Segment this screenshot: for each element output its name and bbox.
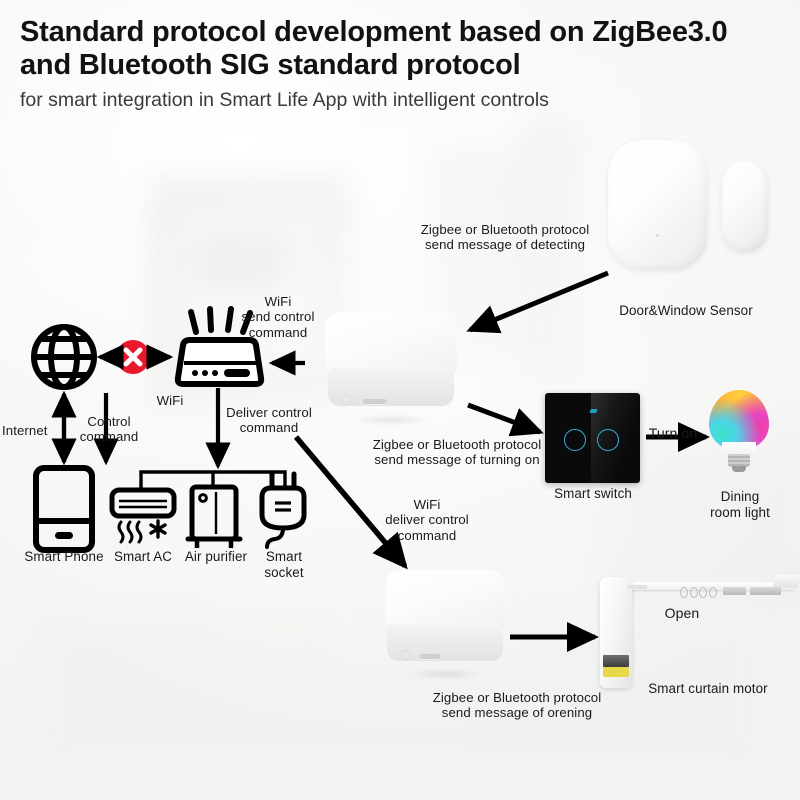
caption-door-window-sensor: Door&Window Sensor [600, 303, 772, 319]
label-wifi-send-control-command: WiFi send control command [218, 294, 338, 340]
vector-overlay [0, 0, 800, 800]
caption-smart-curtain-motor: Smart curtain motor [628, 681, 788, 697]
label-zigbee-detecting: Zigbee or Bluetooth protocol send messag… [396, 222, 614, 253]
label-deliver-control-command: Deliver control command [208, 405, 330, 436]
diagram-canvas: Standard protocol development based on Z… [0, 0, 800, 800]
label-control-command: Control command [66, 414, 152, 445]
label-internet: Internet [2, 423, 62, 438]
caption-dining-room-light: Dining room light [694, 489, 786, 520]
label-wifi: WiFi [148, 393, 192, 408]
blocked-x-icon [116, 340, 150, 374]
label-zigbee-turning-on: Zigbee or Bluetooth protocol send messag… [348, 437, 566, 468]
label-wifi-deliver-control-command: WiFi deliver control command [372, 497, 482, 543]
caption-smart-socket: Smart socket [252, 549, 316, 580]
caption-air-purifier: Air purifier [172, 549, 260, 565]
caption-smart-ac: Smart AC [104, 549, 182, 565]
arrow-hub-to-switch [468, 405, 540, 432]
caption-smart-switch: Smart switch [536, 486, 650, 502]
air-conditioner-icon [112, 490, 174, 542]
air-purifier-icon [188, 487, 240, 548]
label-zigbee-opening: Zigbee or Bluetooth protocol send messag… [408, 690, 626, 721]
smartphone-icon [36, 468, 92, 550]
arrow-sensor-to-hub [470, 273, 608, 330]
label-open: Open [655, 605, 709, 621]
power-plug-icon [262, 474, 304, 547]
label-turn-on: Turn on [640, 425, 706, 441]
globe-icon [34, 327, 94, 387]
